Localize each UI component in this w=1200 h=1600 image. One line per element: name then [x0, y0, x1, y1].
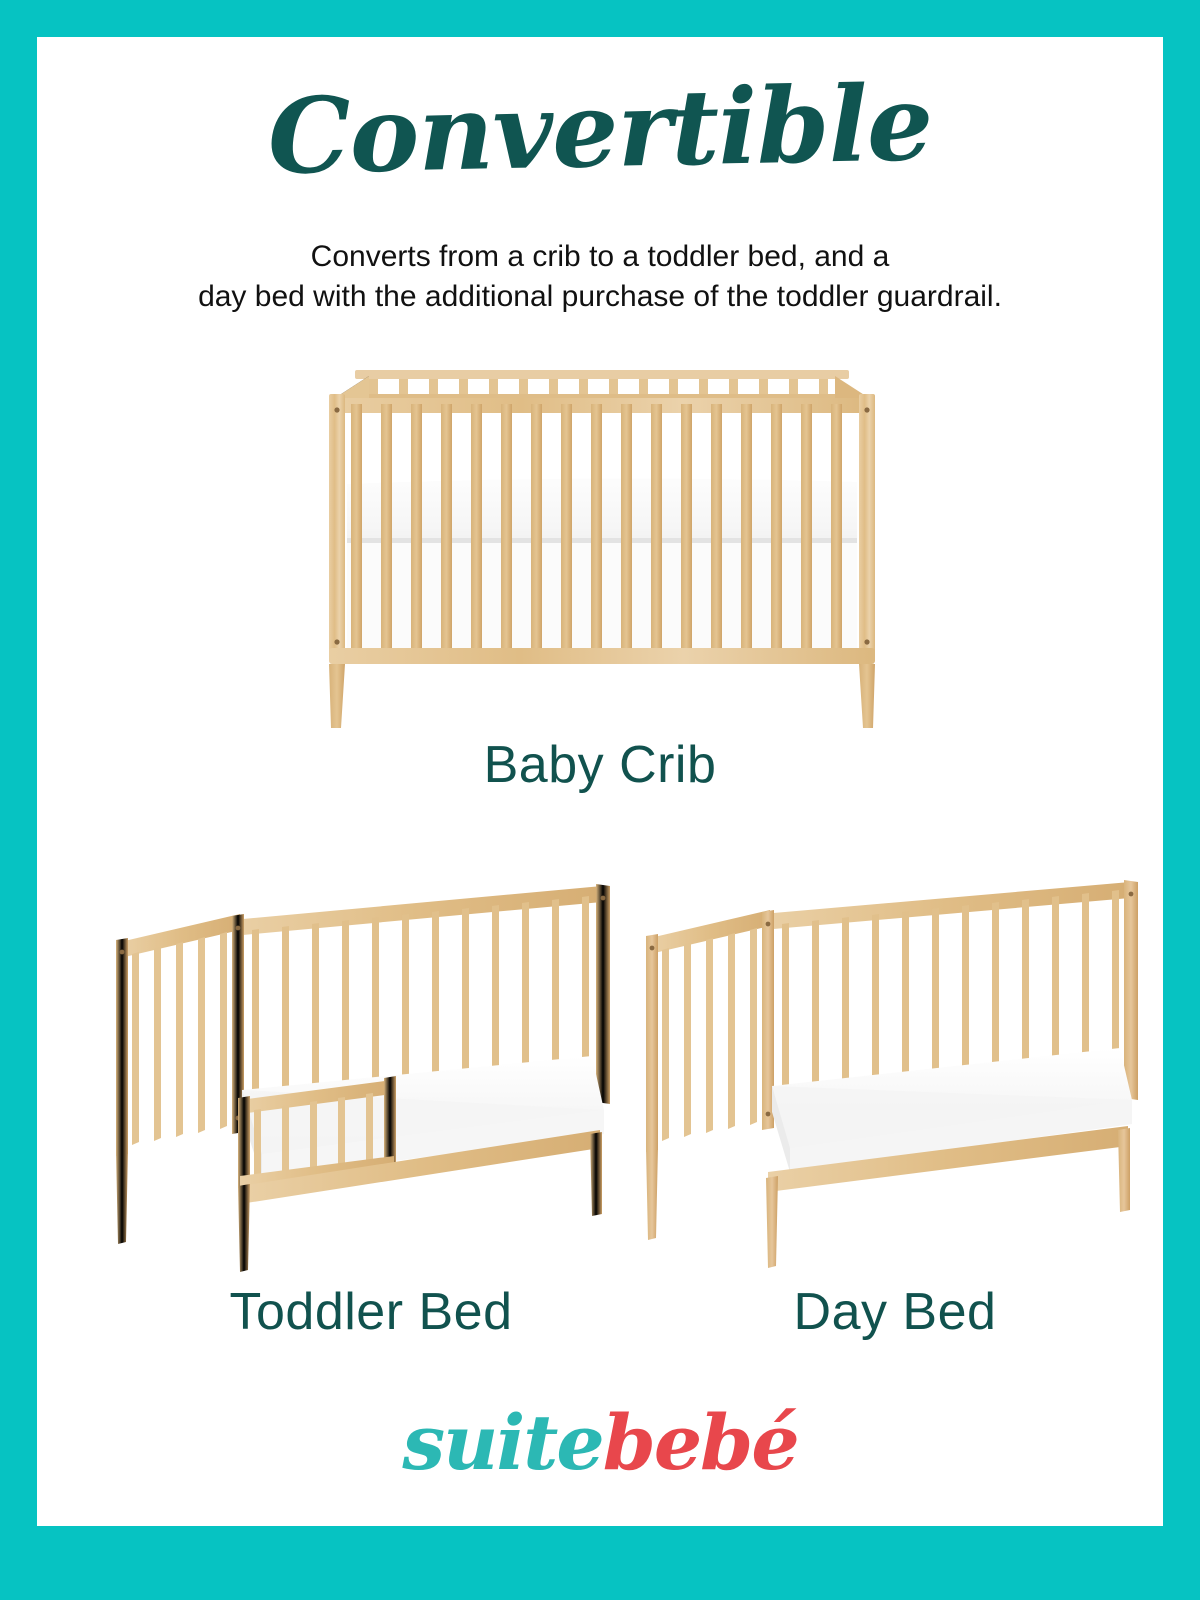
brand-logo-suite: suite [402, 1398, 602, 1487]
caption-baby-crib: Baby Crib [37, 735, 1163, 795]
caption-toddler-bed: Toddler Bed [61, 1282, 681, 1342]
subtitle-line-2: day bed with the additional purchase of … [37, 277, 1163, 317]
subtitle-line-1: Converts from a crib to a toddler bed, a… [37, 237, 1163, 277]
poster-card: Convertible Converts from a crib to a to… [37, 37, 1163, 1526]
poster-root: Convertible Converts from a crib to a to… [0, 0, 1200, 1600]
caption-day-bed: Day Bed [655, 1282, 1135, 1342]
toddler-bed-photo [92, 842, 632, 1272]
baby-crib-photo [307, 342, 897, 732]
subtitle: Converts from a crib to a toddler bed, a… [37, 237, 1163, 316]
day-bed-photo [622, 842, 1162, 1272]
page-title: Convertible [36, 63, 1164, 196]
brand-logo: suitebebé [37, 1405, 1163, 1481]
brand-logo-bebe: bebé [603, 1398, 798, 1487]
